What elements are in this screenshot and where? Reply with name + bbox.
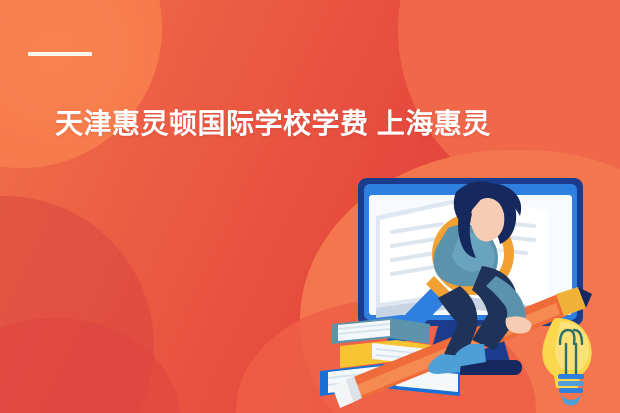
promo-banner: 天津惠灵顿国际学校学费 上海惠灵 — [0, 0, 620, 413]
lightbulb-icon — [542, 318, 591, 406]
accent-rule — [28, 52, 92, 56]
page-title: 天津惠灵顿国际学校学费 上海惠灵 — [55, 107, 575, 141]
study-research-illustration — [310, 168, 620, 413]
